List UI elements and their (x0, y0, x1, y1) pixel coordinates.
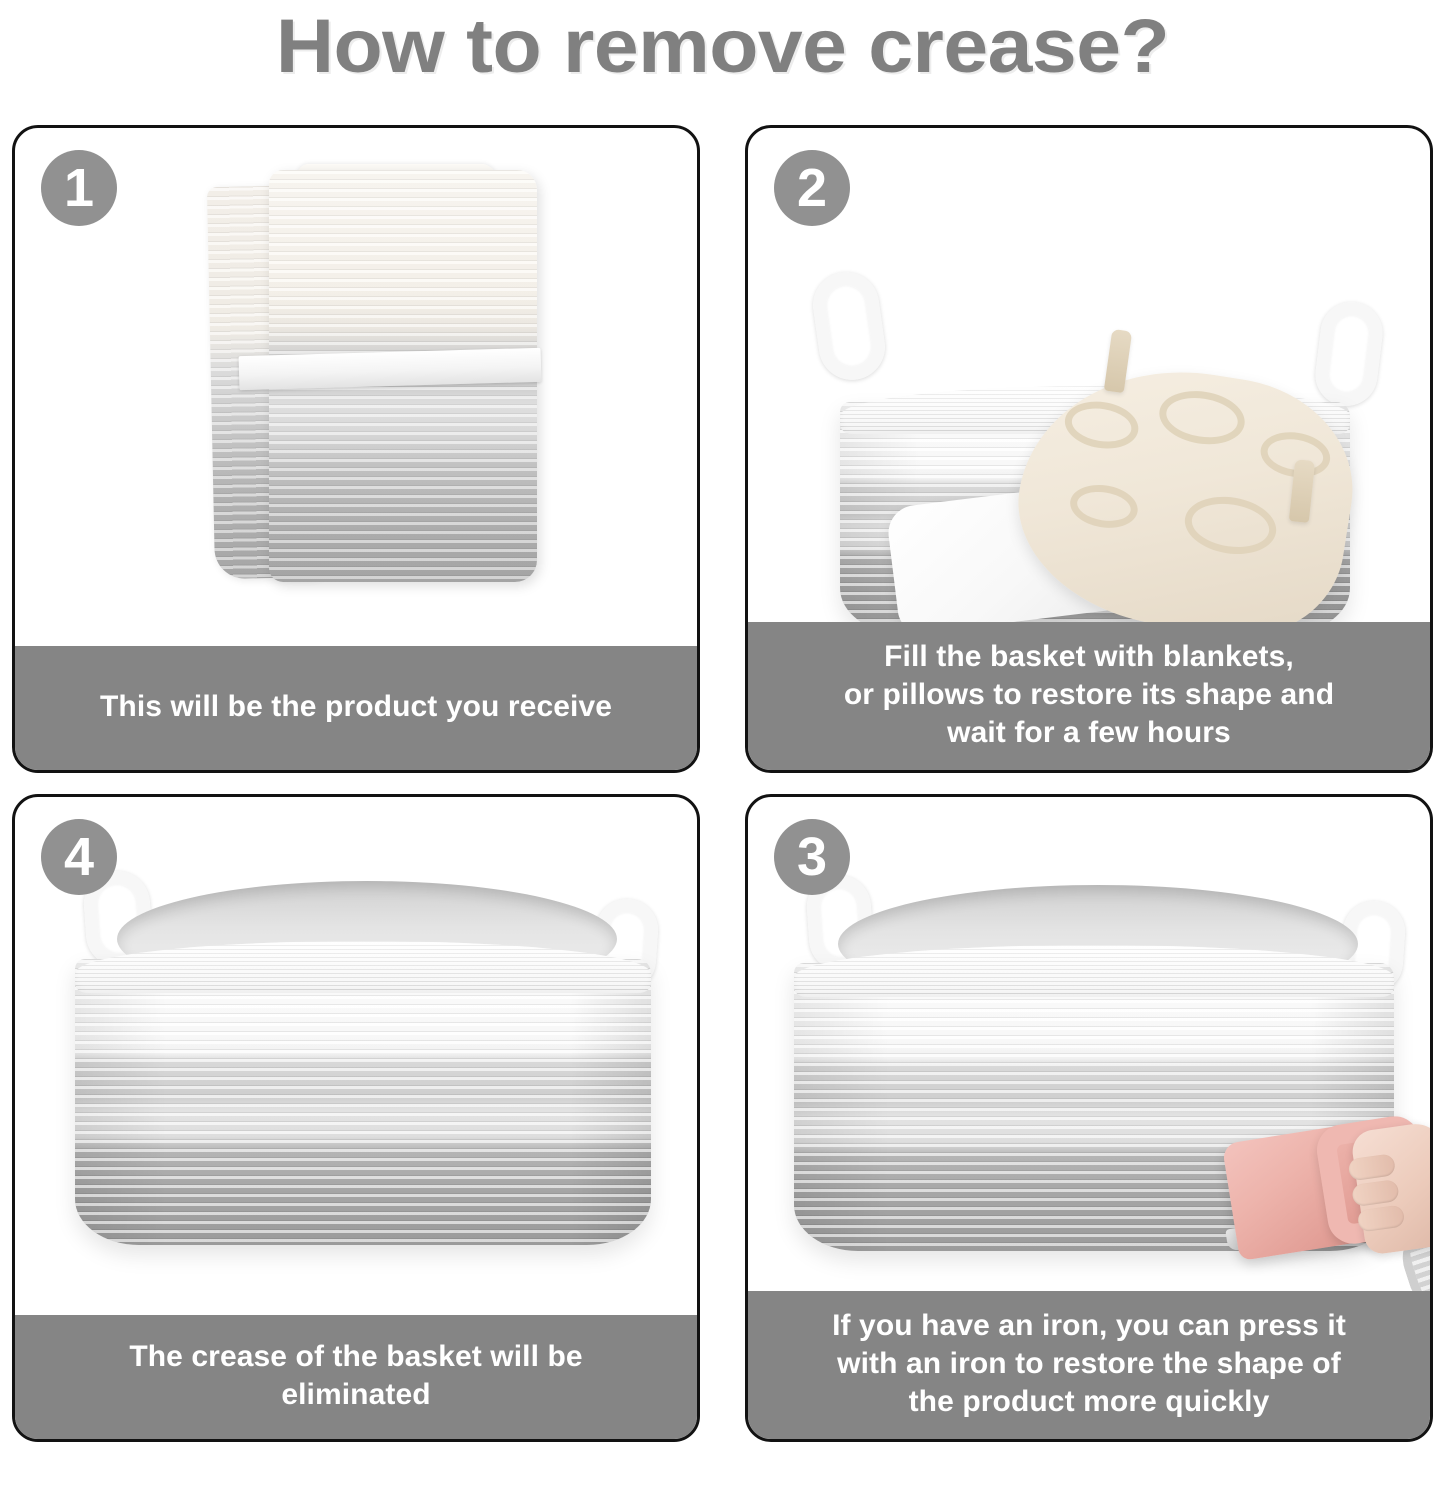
basket-handle-right (1312, 299, 1386, 410)
caption-line: wait for a few hours (947, 714, 1231, 752)
basket-body (75, 959, 651, 1245)
caption-line: the product more quickly (909, 1383, 1270, 1421)
finger (1357, 1204, 1406, 1232)
filled-basket-illustration (840, 364, 1350, 622)
step-3-image: 3 (748, 797, 1430, 1291)
step-4-image: 4 (15, 797, 697, 1315)
step-2-image: 2 (748, 128, 1430, 622)
basket-left-shading (75, 959, 167, 1245)
basket-handle-left (809, 268, 889, 384)
step-number-badge-4: 4 (41, 819, 117, 895)
basket-left-shading (794, 963, 890, 1251)
blanket-tuft (1181, 491, 1281, 561)
step-4-caption: The crease of the basket will be elimina… (15, 1315, 697, 1439)
caption-line: eliminated (281, 1376, 430, 1414)
caption-line: Fill the basket with blankets, (884, 638, 1294, 676)
blanket-tuft (1061, 397, 1141, 454)
caption-line: with an iron to restore the shape of (837, 1345, 1341, 1383)
caption-line: If you have an iron, you can press it (832, 1307, 1346, 1345)
step-number-badge-2: 2 (774, 150, 850, 226)
caption-line: This will be the product you receive (100, 688, 612, 726)
folded-basket-illustration (211, 170, 541, 590)
restored-basket-illustration (75, 915, 651, 1245)
basket-with-iron-illustration (794, 919, 1394, 1251)
step-panel-3: 3 (745, 794, 1433, 1442)
caption-line: The crease of the basket will be (129, 1338, 582, 1376)
caption-line: or pillows to restore its shape and (844, 676, 1334, 714)
step-number-badge-1: 1 (41, 150, 117, 226)
step-1-image: 1 (15, 128, 697, 646)
step-1-caption: This will be the product you receive (15, 646, 697, 770)
step-number-badge-3: 3 (774, 819, 850, 895)
finger (1347, 1153, 1396, 1181)
steps-grid: 1 This will be the product you receive 2 (12, 125, 1433, 1490)
step-2-caption: Fill the basket with blankets, or pillow… (748, 622, 1430, 770)
step-panel-2: 2 (745, 125, 1433, 773)
step-panel-1: 1 This will be the product you receive (12, 125, 700, 773)
finger (1351, 1179, 1400, 1207)
garment-steamer-iron (1230, 1114, 1430, 1291)
blanket-tuft (1155, 385, 1248, 450)
basket-right-shading (570, 959, 651, 1245)
step-panel-4: 4 The crease of the basket will be elimi… (12, 794, 700, 1442)
page-title: How to remove crease? (0, 0, 1445, 90)
blanket-tuft (1067, 480, 1141, 532)
step-3-caption: If you have an iron, you can press it wi… (748, 1291, 1430, 1439)
